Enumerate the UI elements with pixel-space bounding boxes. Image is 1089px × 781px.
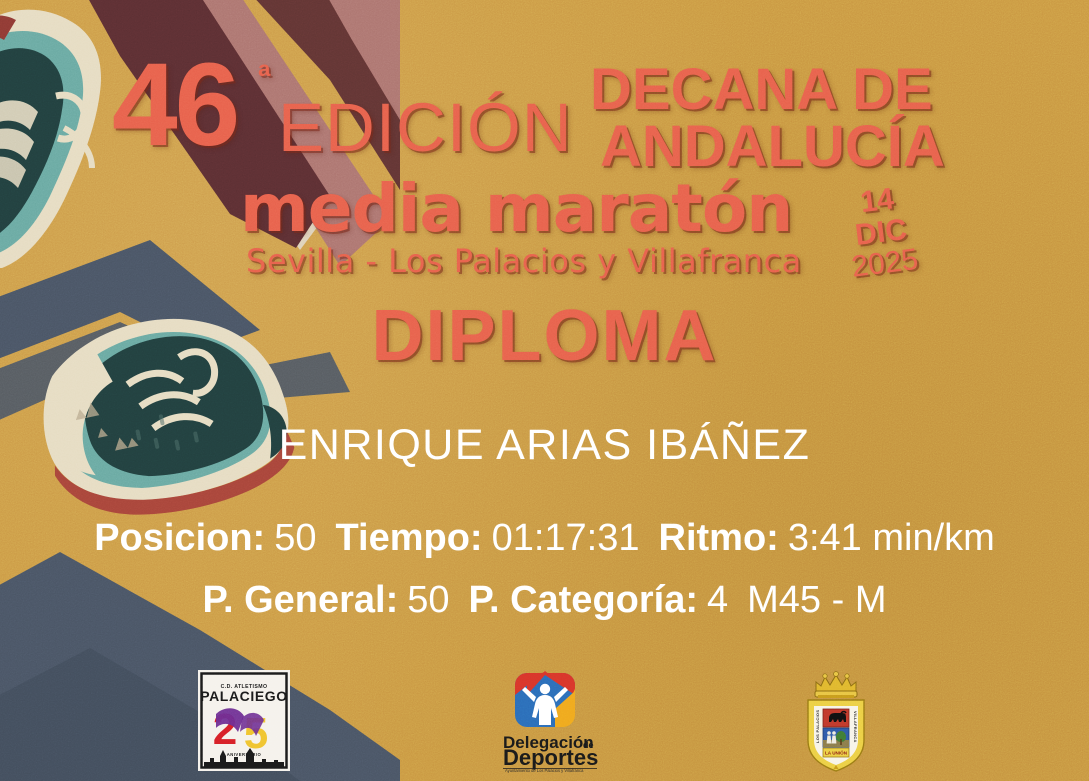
value-categoria: M45 - M xyxy=(747,579,886,621)
diploma-canvas: 46 ª EDICIÓN DECANA DE ANDALUCÍA media m… xyxy=(0,0,1089,781)
tagline-line-1: DECANA DE xyxy=(590,62,933,117)
edition-word: EDICIÓN xyxy=(278,93,573,162)
escudo-motto: LA UNIÓN xyxy=(825,749,848,756)
event-location: Sevilla - Los Palacios y Villafranca xyxy=(246,245,802,277)
value-ritmo: 3:41 min/km xyxy=(788,517,995,559)
event-name: media maratón xyxy=(240,176,792,242)
sponsor-logos: C.D. ATLETISMO PALACIEGO 2 5 ANIVERSARIO xyxy=(0,660,1089,781)
event-date: 14 DIC 2025 xyxy=(831,180,932,285)
value-posicion: 50 xyxy=(274,517,316,559)
label-tiempo: Tiempo: xyxy=(336,517,483,559)
logo-delegacion-de-deportes: Delegación de Deportes Ayuntamiento de L… xyxy=(487,669,603,773)
label-p-categoria: P. Categoría: xyxy=(469,579,698,621)
logo-emblem-figure xyxy=(515,671,575,727)
label-p-general: P. General: xyxy=(203,579,399,621)
escudo-crown xyxy=(815,672,857,698)
value-tiempo: 01:17:31 xyxy=(492,517,640,559)
page-title: DIPLOMA xyxy=(0,300,1089,372)
logo-club-name: PALACIEGO xyxy=(200,688,288,704)
edition-ordinal: ª xyxy=(258,60,271,94)
results-line-1: Posicion:50Tiempo:01:17:31Ritmo:3:41 min… xyxy=(0,519,1089,557)
value-p-categoria: 4 xyxy=(707,579,728,621)
results-line-2: P. General:50P. Categoría:4M45 - M xyxy=(0,581,1089,619)
logo-anniv-word: ANIVERSARIO xyxy=(227,752,262,757)
label-posicion: Posicion: xyxy=(94,517,265,559)
logo-subline: Ayuntamiento de Los Palacios y Villafran… xyxy=(505,768,584,773)
tagline-line-2: ANDALUCÍA xyxy=(600,119,945,174)
value-p-general: 50 xyxy=(407,579,449,621)
escudo-left-text: LOS PALACIOS xyxy=(815,710,820,743)
label-ritmo: Ritmo: xyxy=(659,517,779,559)
logo-line-deportes: Deportes xyxy=(503,745,598,770)
logo-escudo-los-palacios-y-villafranca: LA UNIÓN LOS PALACIOS VILLAFRANCA xyxy=(794,665,878,773)
escudo-right-text: VILLAFRANCA xyxy=(853,711,858,743)
edition-number: 46 xyxy=(112,46,237,164)
logo-cd-atletismo-palaciego: C.D. ATLETISMO PALACIEGO 2 5 ANIVERSARIO xyxy=(198,670,290,771)
runner-name: ENRIQUE ARIAS IBÁÑEZ xyxy=(0,424,1089,467)
